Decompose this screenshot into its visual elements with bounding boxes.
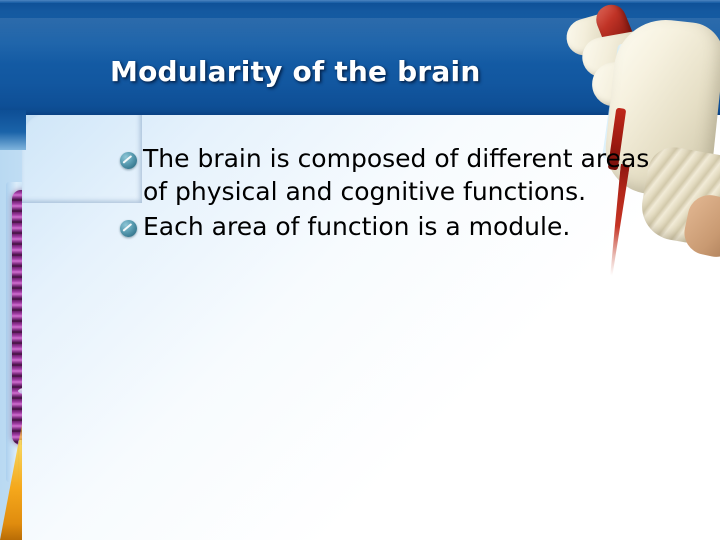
- slide-title: Modularity of the brain: [110, 55, 580, 88]
- list-item: Each area of function is a module.: [120, 210, 650, 243]
- list-item-text: Each area of function is a module.: [143, 210, 570, 243]
- panel-corner-fill: [0, 110, 26, 150]
- slide-body: The brain is composed of different areas…: [120, 142, 650, 245]
- teal-sphere-bullet-icon: [120, 152, 137, 169]
- slide: Modularity of the brain The brain is com…: [0, 0, 720, 540]
- list-item-text: The brain is composed of different areas…: [143, 142, 650, 208]
- teal-sphere-bullet-icon: [120, 220, 137, 237]
- list-item: The brain is composed of different areas…: [120, 142, 650, 208]
- title-bar-bottom-edge: [0, 111, 720, 115]
